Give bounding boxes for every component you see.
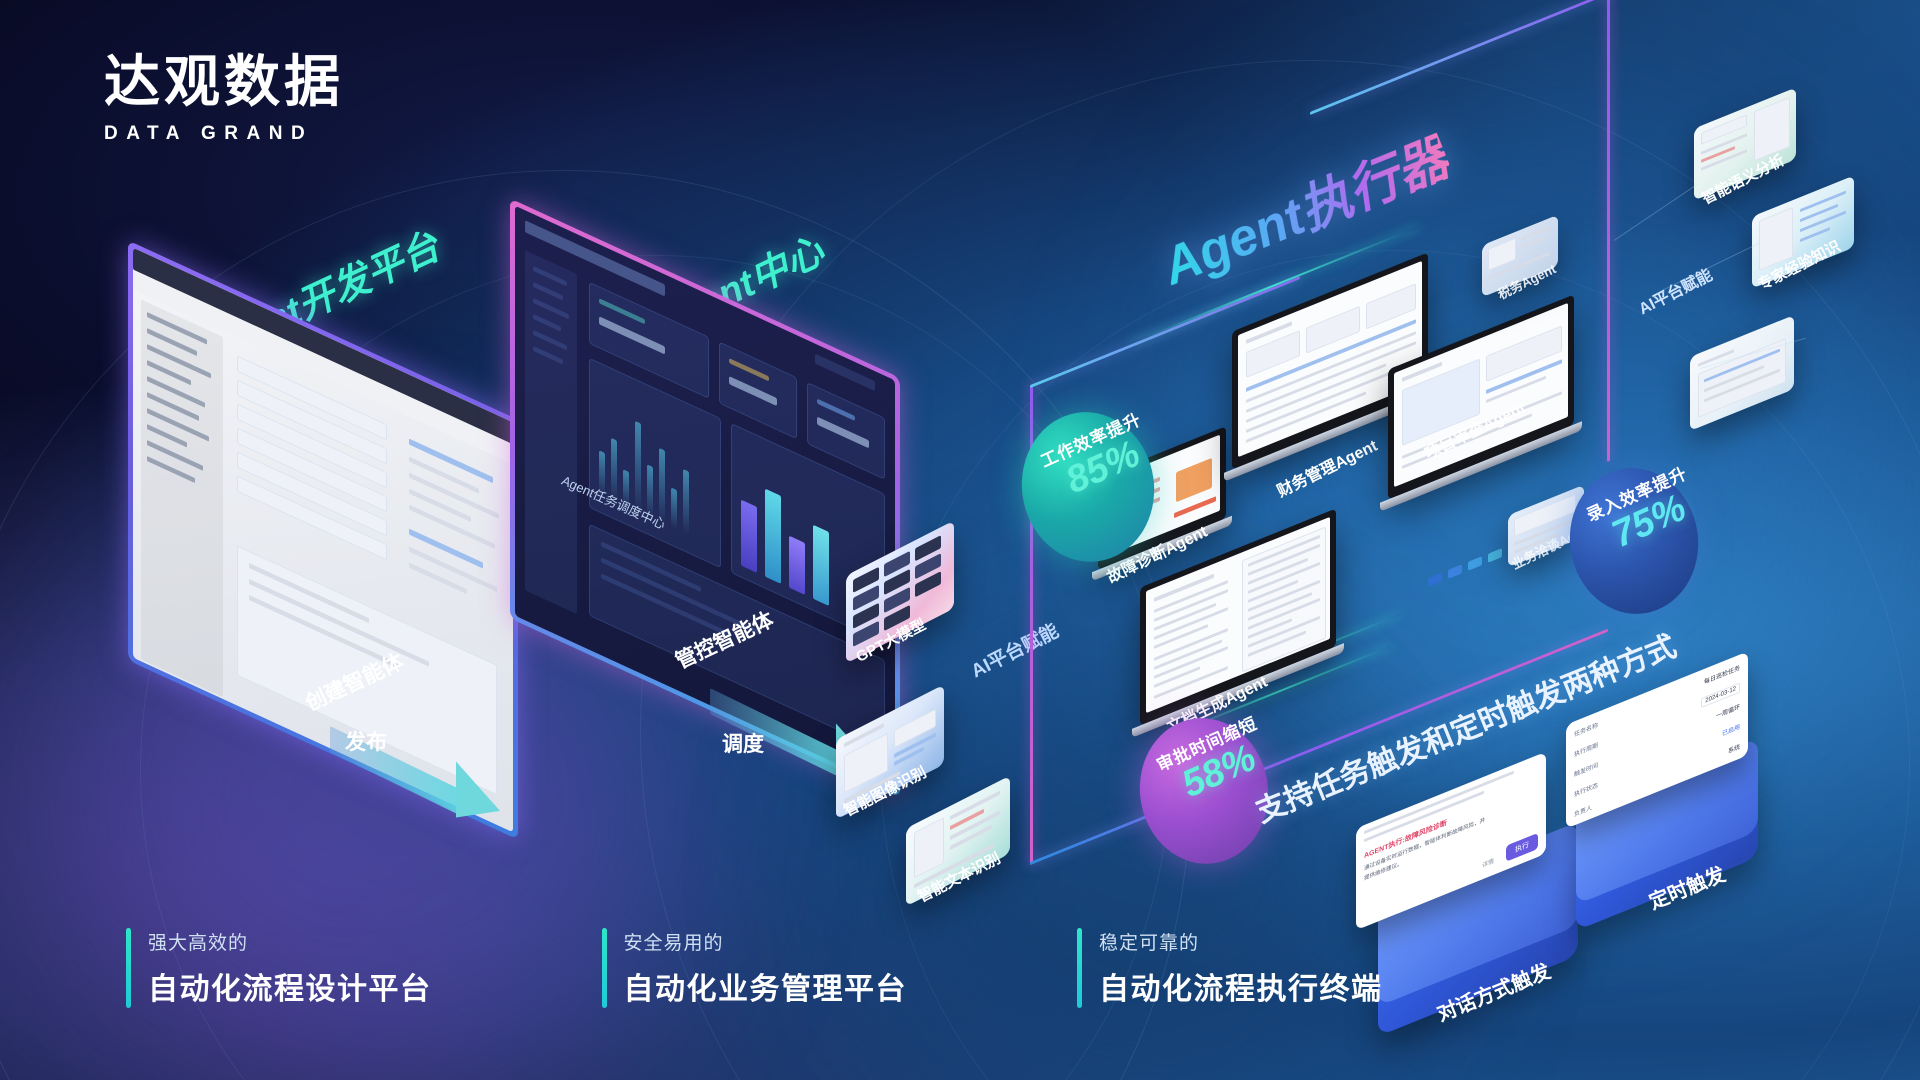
dev-platform-screen bbox=[128, 240, 518, 839]
ai-platform-label-right: AI平台赋能 bbox=[1635, 265, 1716, 321]
caption-main: 自动化流程执行终端 bbox=[1099, 964, 1383, 1008]
caption-design-platform: 强大高效的 自动化流程设计平台 bbox=[126, 928, 432, 1008]
caption-sub: 安全易用的 bbox=[624, 928, 908, 955]
caption-sub: 强大高效的 bbox=[148, 928, 432, 955]
bottom-captions: 强大高效的 自动化流程设计平台 安全易用的 自动化业务管理平台 稳定可靠的 自动… bbox=[126, 928, 1383, 1008]
brand-name-en: DATA GRAND bbox=[104, 123, 344, 145]
connector-line bbox=[1662, 242, 1761, 291]
ai-platform-label-center-text: AI平台赋能 bbox=[968, 621, 1062, 683]
screen-panel bbox=[133, 248, 513, 833]
trigger-chat-meta[interactable]: 详情 bbox=[1482, 856, 1494, 870]
arrow-label-dispatch: 调度 bbox=[722, 728, 764, 758]
brand-name-cn: 达观数据 bbox=[104, 52, 344, 115]
infographic-canvas: 达观数据 DATA GRAND Agent开发平台 Multi-Agent中心 … bbox=[0, 0, 1920, 1080]
caption-accent-bar bbox=[126, 928, 131, 1008]
screen-panel bbox=[515, 206, 895, 791]
connector-line bbox=[1614, 184, 1697, 241]
capability-card-extra bbox=[1690, 315, 1794, 431]
caption-business-platform: 安全易用的 自动化业务管理平台 bbox=[602, 928, 908, 1008]
trigger-chat-action[interactable]: 执行 bbox=[1506, 833, 1538, 862]
caption-accent-bar bbox=[1077, 928, 1082, 1008]
caption-main: 自动化业务管理平台 bbox=[624, 964, 908, 1008]
caption-execution-terminal: 稳定可靠的 自动化流程执行终端 bbox=[1077, 928, 1383, 1008]
ai-platform-label-right-text: AI平台赋能 bbox=[1636, 267, 1715, 318]
caption-main: 自动化流程设计平台 bbox=[148, 964, 432, 1008]
brand-logo: 达观数据 DATA GRAND bbox=[104, 52, 344, 145]
multi-agent-screen bbox=[510, 198, 900, 797]
caption-accent-bar bbox=[602, 928, 607, 1008]
schedule-row-value: 每日巡检任务 bbox=[1658, 662, 1740, 704]
caption-sub: 稳定可靠的 bbox=[1099, 928, 1383, 955]
arrow-label-publish: 发布 bbox=[345, 726, 387, 756]
ai-platform-label-center: AI平台赋能 bbox=[968, 620, 1064, 685]
